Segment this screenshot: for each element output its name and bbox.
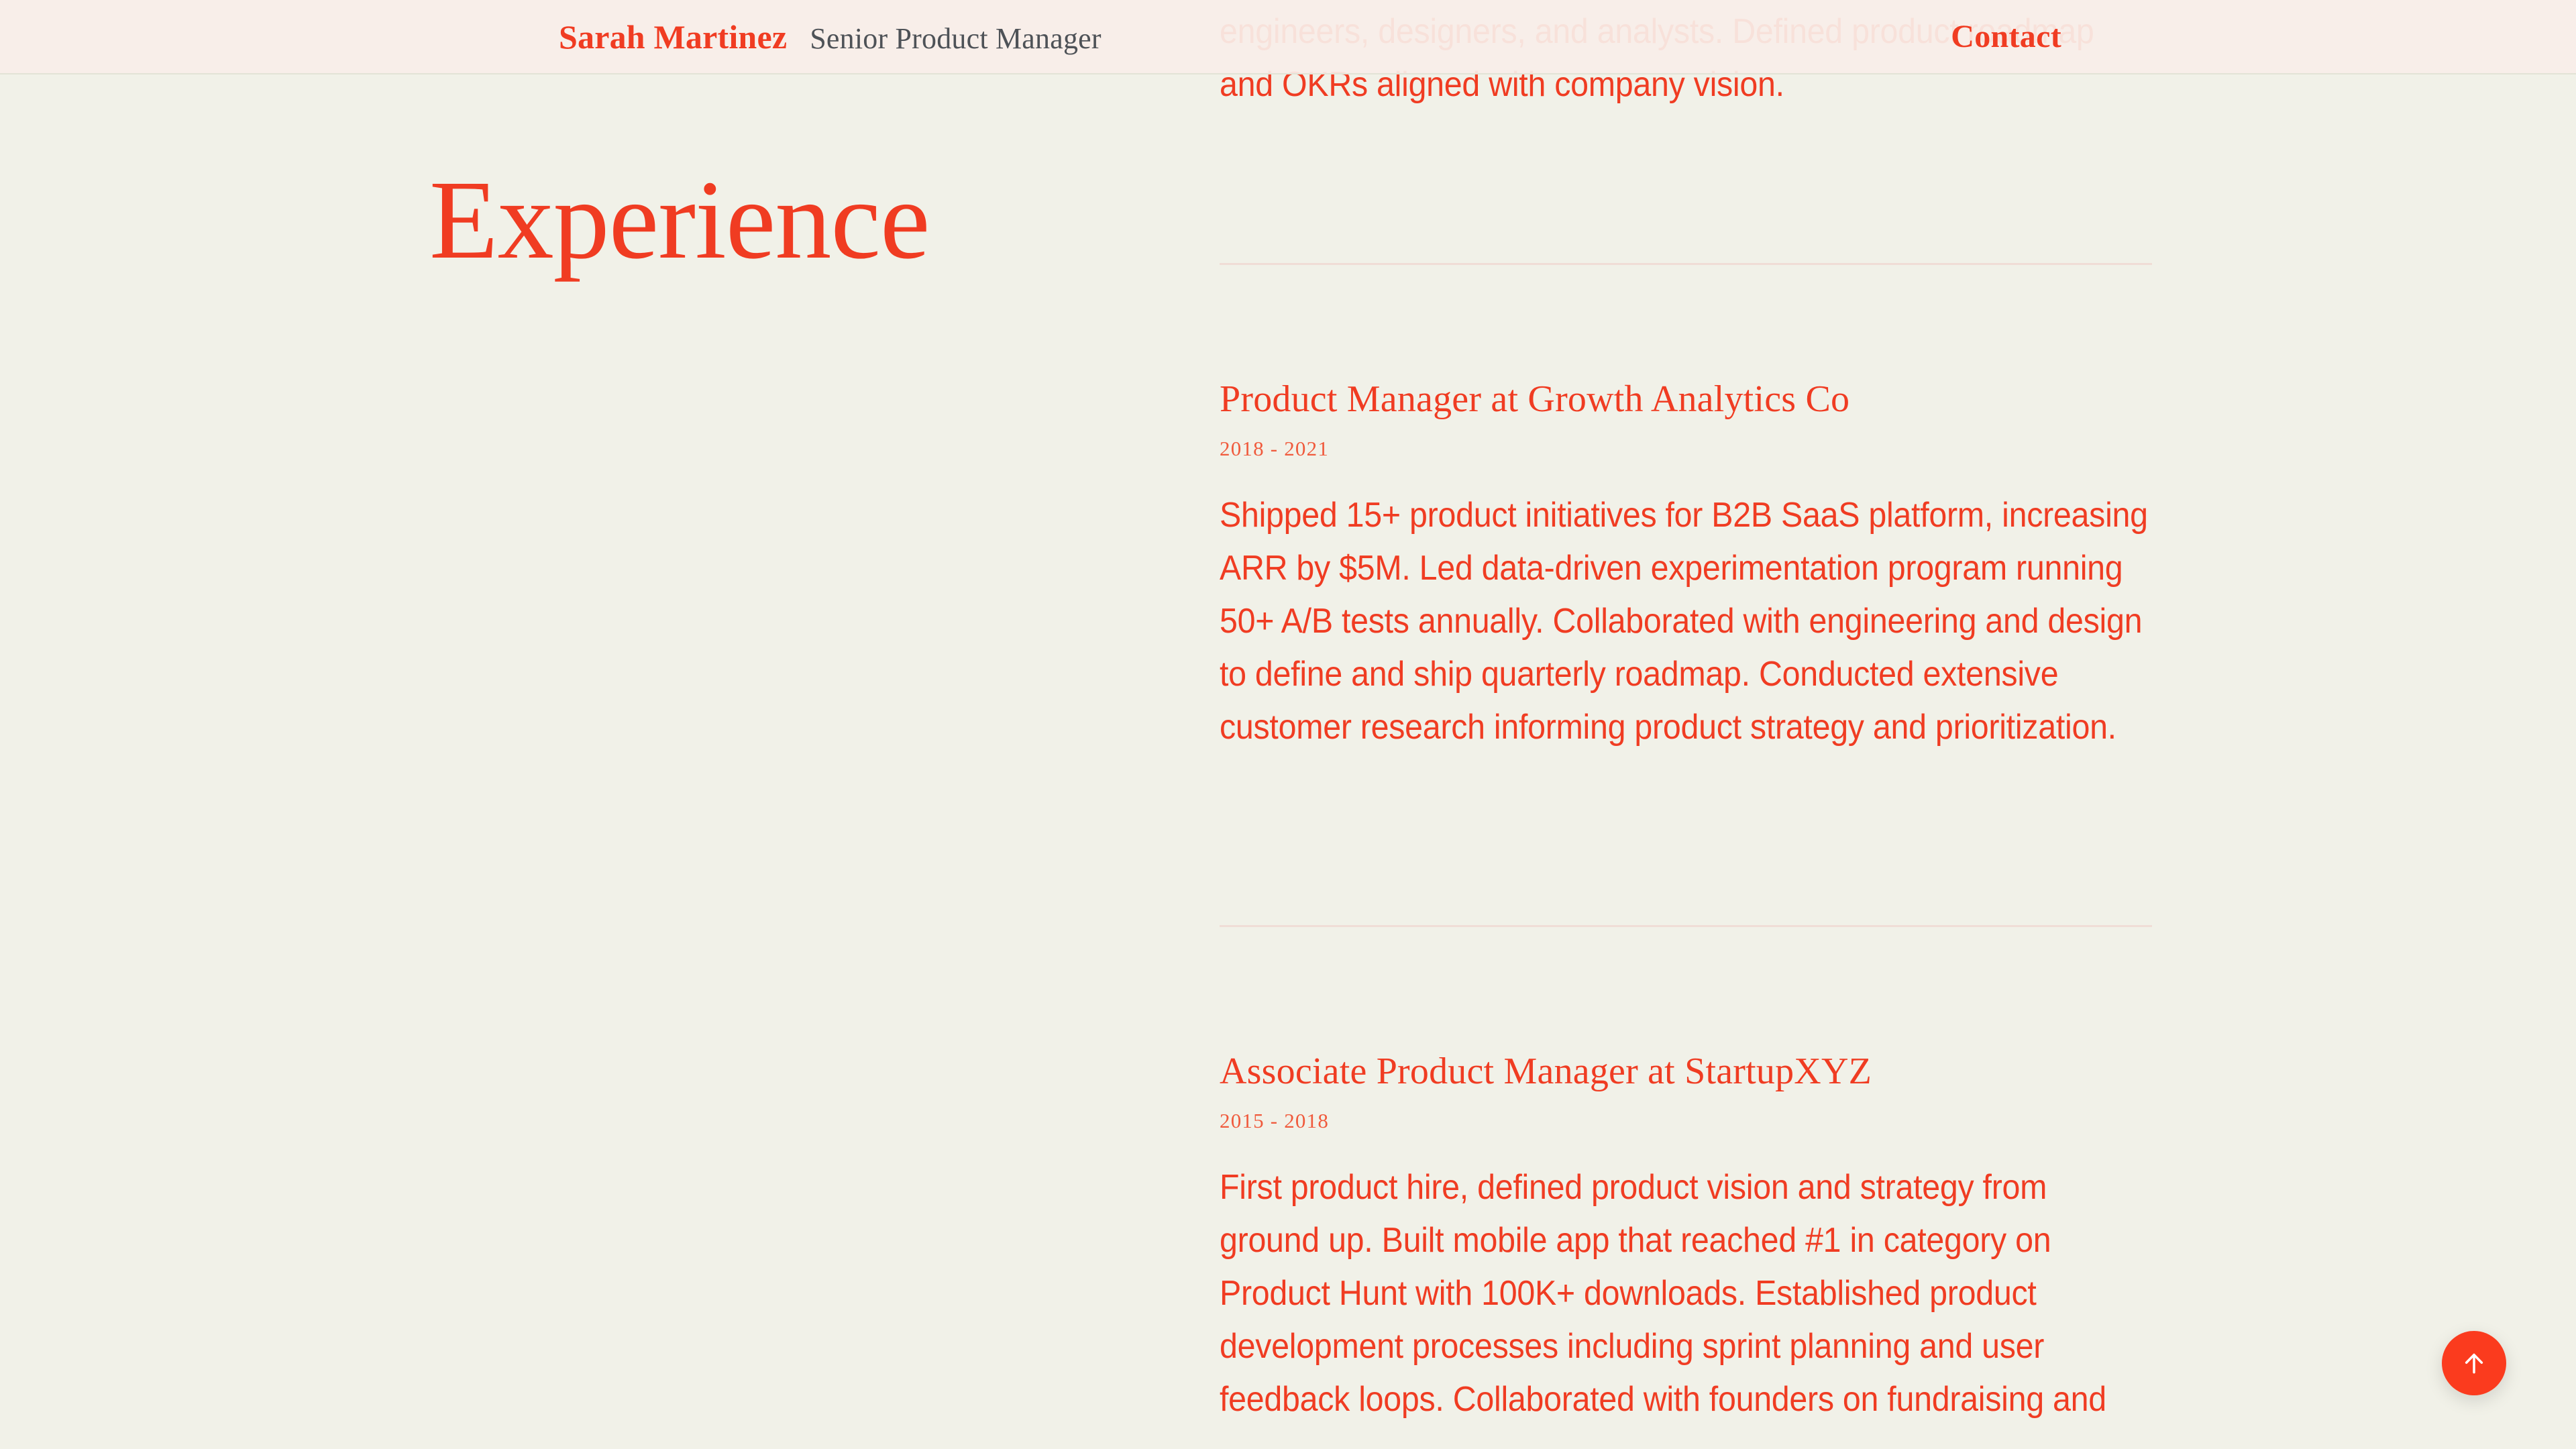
nav-link-contact[interactable]: Contact — [1951, 21, 2061, 53]
experience-entry: Product Manager at Growth Analytics Co 2… — [1220, 377, 2152, 754]
site-header: Sarah Martinez Senior Product Manager Co… — [0, 0, 2576, 74]
arrow-up-icon — [2459, 1348, 2489, 1378]
entry-dates: 2015 - 2018 — [1220, 1108, 2152, 1133]
experience-heading-column: Experience — [429, 161, 1167, 279]
brand-role: Senior Product Manager — [810, 24, 1102, 54]
experience-entry: Associate Product Manager at StartupXYZ … — [1220, 1049, 2152, 1426]
entry-dates: 2018 - 2021 — [1220, 436, 2152, 461]
entry-description: Shipped 15+ product initiatives for B2B … — [1220, 489, 2152, 754]
entry-divider — [1220, 925, 2152, 927]
brand[interactable]: Sarah Martinez Senior Product Manager — [559, 20, 1102, 54]
entry-description: First product hire, defined product visi… — [1220, 1161, 2152, 1426]
brand-name[interactable]: Sarah Martinez — [559, 20, 787, 54]
scroll-to-top-button[interactable] — [2442, 1331, 2506, 1395]
entry-title: Associate Product Manager at StartupXYZ — [1220, 1049, 2152, 1093]
entry-divider — [1220, 263, 2152, 265]
page-title: Experience — [429, 161, 1167, 279]
entry-title: Product Manager at Growth Analytics Co — [1220, 377, 2152, 421]
page-root: Experience engineers, designers, and ana… — [0, 0, 2576, 1449]
